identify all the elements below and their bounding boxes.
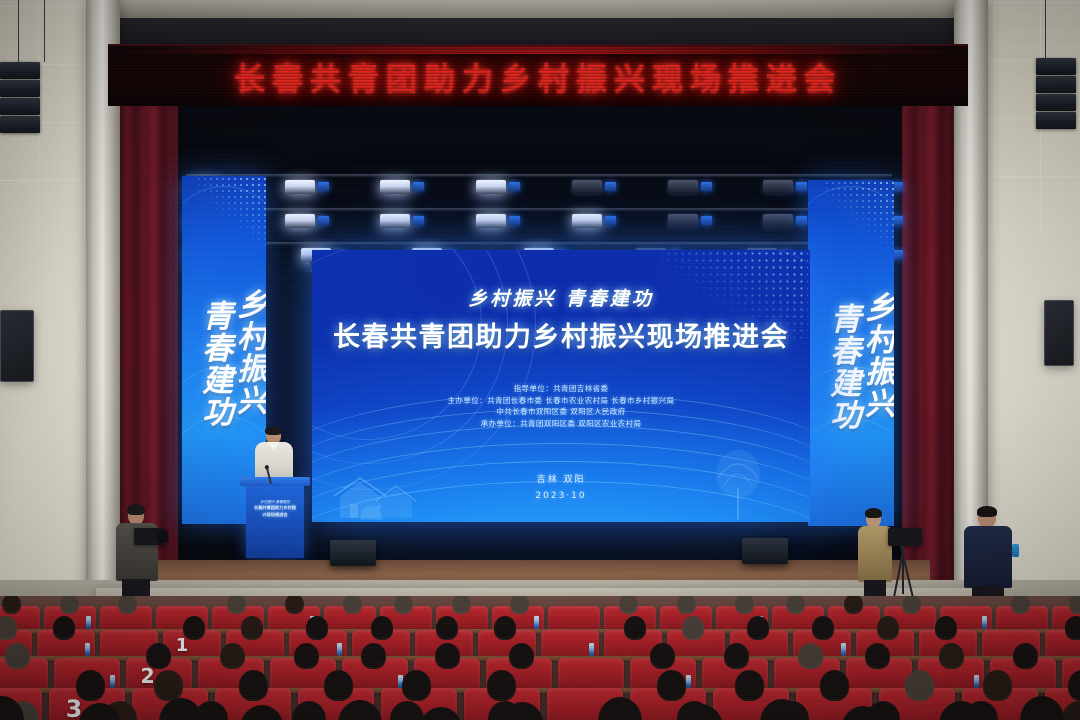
- audience-head: [2, 596, 21, 614]
- wall-monitor-left: [0, 310, 34, 382]
- screen-footer-date: 2023·10: [312, 489, 810, 504]
- water-bottle: [589, 643, 594, 656]
- smartphone: [1012, 544, 1019, 557]
- stage-light-blue: [509, 216, 520, 225]
- person-body: [964, 526, 1012, 588]
- stage-light-blue: [509, 182, 520, 191]
- speaker-box: [0, 116, 40, 133]
- person-hair: [977, 506, 997, 517]
- audience-head: [877, 616, 899, 639]
- screen-footer-location: 吉林 双阳: [312, 473, 810, 488]
- wall-monitor-right: [1044, 300, 1074, 366]
- screen-footer: 吉林 双阳 2023·10: [312, 473, 810, 504]
- line-array-speaker-left: [0, 62, 40, 133]
- water-bottle: [841, 643, 846, 656]
- audience-head: [939, 643, 964, 670]
- wall-tile: [994, 118, 1040, 176]
- operator-hair: [127, 504, 145, 515]
- audience-head: [324, 670, 353, 701]
- audience-head: [902, 596, 921, 614]
- audience-head: [285, 596, 304, 614]
- audience-head: [820, 670, 849, 701]
- audience-head: [983, 670, 1012, 701]
- audience-head: [5, 643, 30, 670]
- conference-photo: 长春共青团助力乡村振兴现场推进会 乡村振兴 青春建功 乡村振兴 青春建功: [0, 0, 1080, 720]
- audience-head: [624, 616, 646, 639]
- stage-light: [380, 214, 410, 228]
- main-led-screen: 乡村振兴 青春建功 长春共青团助力乡村振兴现场推进会 指导单位：共青团吉林省委 …: [312, 250, 810, 522]
- wall-tile: [38, 64, 84, 122]
- audience-head: [844, 596, 863, 614]
- audience-head: [241, 616, 263, 639]
- stage-light-blue: [605, 182, 616, 191]
- audience-head: [1011, 596, 1030, 614]
- audience-head: [371, 616, 393, 639]
- audience-head: [650, 643, 675, 670]
- stage-light-blue: [318, 216, 329, 225]
- truss-bar: [186, 242, 892, 245]
- water-bottle: [85, 643, 90, 656]
- stage-light-blue: [413, 182, 424, 191]
- stage-monitor-right: [742, 538, 788, 564]
- audience-head: [494, 616, 516, 639]
- wall-tile: [38, 122, 84, 180]
- water-bottle: [974, 675, 979, 688]
- side-panel-right-text: 乡村振兴 青春建功: [808, 180, 894, 526]
- audience-head: [402, 670, 431, 701]
- screen-calligraphy-title: 乡村振兴 青春建功: [312, 284, 810, 311]
- stage-light: [668, 214, 698, 228]
- audience-head: [0, 616, 17, 639]
- seat-number: 1: [176, 635, 189, 656]
- screen-main-title: 长春共青团助力乡村振兴现场推进会: [312, 315, 810, 354]
- side-led-panel-right: 乡村振兴 青春建功: [808, 180, 894, 526]
- audience-head: [227, 596, 246, 614]
- audience-head: [436, 616, 458, 639]
- speaker-wire-right: [1045, 0, 1046, 60]
- truss-bar: [186, 174, 892, 177]
- audience-head: [60, 596, 79, 614]
- audience-head: [812, 616, 834, 639]
- water-bottle: [110, 675, 115, 688]
- audience-head: [154, 670, 183, 701]
- stage-light-blue: [701, 216, 712, 225]
- stage-light: [285, 180, 315, 194]
- speaker-box: [0, 62, 40, 79]
- audience-head: [735, 670, 764, 701]
- truss-bar: [186, 208, 892, 211]
- podium-sign: 乡村振兴 青春建功 长春共青团助力乡村振兴现场推进会: [253, 500, 297, 524]
- podium: 乡村振兴 青春建功 长春共青团助力乡村振兴现场推进会: [246, 484, 304, 558]
- audience-head: [682, 616, 704, 639]
- wall-tile: [1040, 2, 1080, 60]
- stage-light: [763, 180, 793, 194]
- wall-tile: [0, 180, 38, 238]
- audience-head: [865, 643, 890, 670]
- audience-head: [239, 670, 268, 701]
- screen-credits-block: 指导单位：共青团吉林省委 主办单位：共青团长春市委 长春市农业农村局 长春市乡村…: [312, 383, 810, 430]
- tripod-leg: [902, 546, 904, 594]
- audience-seating: 123: [0, 596, 1080, 720]
- water-bottle: [982, 616, 987, 629]
- proscenium-lip: [100, 0, 974, 18]
- audience-head: [724, 643, 749, 670]
- wall-tile: [38, 180, 84, 238]
- wall-tile: [994, 2, 1040, 60]
- speaker-wire-left-2: [44, 0, 45, 62]
- camera-lens: [158, 531, 168, 542]
- audience-head: [220, 643, 245, 670]
- audience-head: [657, 670, 686, 701]
- audience-head: [343, 596, 362, 614]
- audience-head: [677, 596, 696, 614]
- operator-body: [858, 526, 892, 582]
- audience-head: [619, 596, 638, 614]
- wall-tile: [994, 176, 1040, 234]
- led-banner: 长春共青团助力乡村振兴现场推进会: [108, 44, 968, 106]
- audience-head: [905, 670, 934, 701]
- stage-light: [476, 180, 506, 194]
- audience-head: [361, 643, 386, 670]
- water-bottle: [86, 616, 91, 629]
- speaker-hair: [265, 426, 282, 435]
- audience-head: [798, 643, 823, 670]
- speaker-box: [1036, 112, 1076, 129]
- audience-head: [294, 643, 319, 670]
- speaker-box: [1036, 94, 1076, 111]
- audience-head: [435, 643, 460, 670]
- podium-top: [240, 477, 310, 486]
- podium-sign-line2: 长春共青团助力乡村振兴现场推进会: [253, 505, 297, 518]
- wall-tile: [1040, 176, 1080, 234]
- credit-line: 指导单位：共青团吉林省委: [312, 383, 810, 395]
- wall-tile: [0, 6, 38, 64]
- seat: [558, 658, 624, 691]
- stage-light: [572, 180, 602, 194]
- audience-head: [509, 643, 534, 670]
- audience-head: [53, 616, 75, 639]
- speaker-box: [0, 80, 40, 97]
- audience-head: [747, 616, 769, 639]
- stage-light-blue: [605, 216, 616, 225]
- audience-head: [452, 596, 471, 614]
- audience-head: [118, 596, 137, 614]
- audience-head: [1065, 616, 1080, 639]
- speaker-box: [1036, 76, 1076, 93]
- speaker-wire-left: [18, 0, 19, 66]
- credit-line: 中共长春市双阳区委 双阳区人民政府: [312, 406, 810, 418]
- led-banner-text: 长春共青团助力乡村振兴现场推进会: [234, 54, 842, 99]
- stage-light-blue: [701, 182, 712, 191]
- wall-tile: [994, 60, 1040, 118]
- water-bottle: [534, 616, 539, 629]
- speaker-box: [1036, 58, 1076, 75]
- tripod-camera: [888, 528, 922, 546]
- seat-number: 2: [141, 664, 155, 688]
- credit-line: 主办单位：共青团长春市委 长春市农业农村局 长春市乡村振兴局: [312, 395, 810, 407]
- stage-light: [476, 214, 506, 228]
- stage-light-blue: [318, 182, 329, 191]
- audience-head: [487, 670, 516, 701]
- stage-light: [763, 214, 793, 228]
- water-bottle: [686, 675, 691, 688]
- audience-head: [306, 616, 328, 639]
- line-array-speaker-right: [1036, 58, 1076, 129]
- water-bottle: [337, 643, 342, 656]
- audience-head: [510, 596, 529, 614]
- stage-light-blue: [413, 216, 424, 225]
- speaker-box: [0, 98, 40, 115]
- stage-light-blue: [796, 182, 807, 191]
- audience-head: [935, 616, 957, 639]
- audience-head: [786, 596, 805, 614]
- audience-head: [394, 596, 413, 614]
- operator-hair: [865, 508, 882, 518]
- stage-light: [668, 180, 698, 194]
- audience-head: [1013, 643, 1038, 670]
- stage-light: [285, 214, 315, 228]
- audience-head: [735, 596, 754, 614]
- stage-light-blue: [796, 216, 807, 225]
- stage-light: [572, 214, 602, 228]
- stage-monitor-left: [330, 540, 376, 566]
- credit-line: 承办单位：共青团双阳区委 双阳区农业农村局: [312, 418, 810, 430]
- stage-light: [380, 180, 410, 194]
